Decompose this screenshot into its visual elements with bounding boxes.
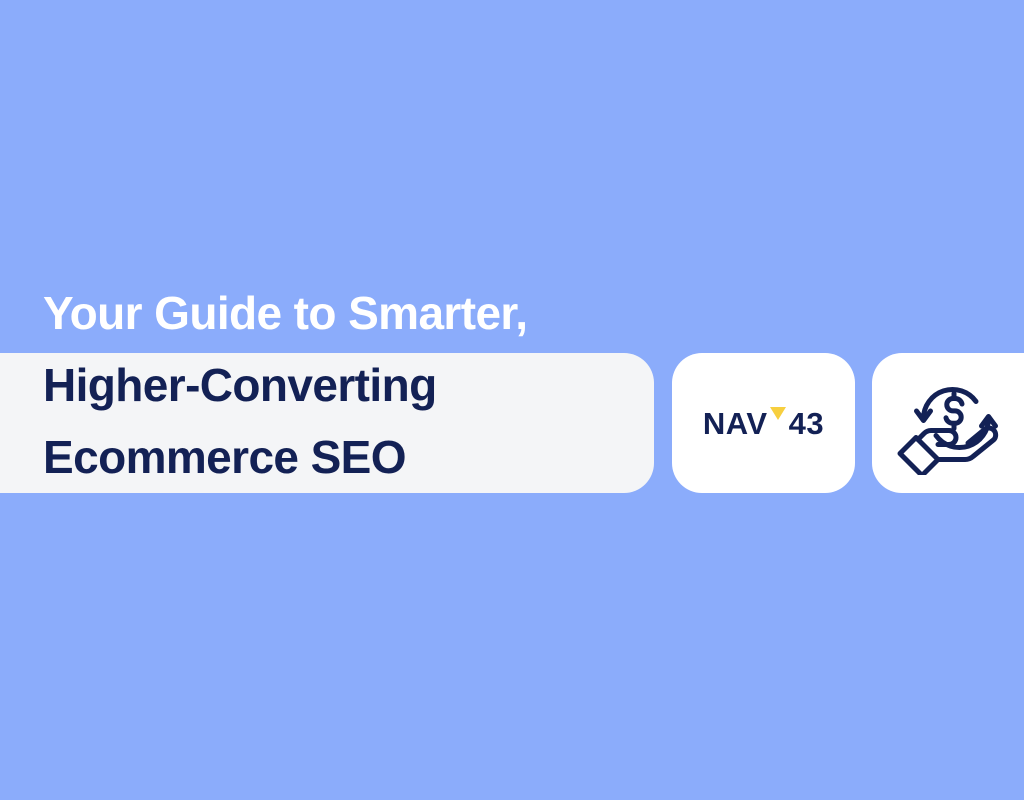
wordmark-part-43: 43: [789, 408, 824, 439]
headline-line-2: Higher-Converting: [43, 349, 663, 421]
headline-line-3: Ecommerce SEO: [43, 421, 663, 493]
brand-logo-card[interactable]: NAV 43: [672, 353, 855, 493]
headline-line-1: Your Guide to Smarter,: [43, 277, 663, 349]
icon-card[interactable]: [872, 353, 1024, 493]
triangle-down-icon: [770, 407, 786, 420]
page-title: Your Guide to Smarter, Higher-Converting…: [43, 277, 663, 493]
wordmark-part-nav: NAV: [703, 408, 768, 439]
slide-canvas: NAV 43 Your Gu: [0, 0, 1024, 800]
nav43-wordmark: NAV 43: [703, 408, 824, 439]
hand-holding-dollar-coin-refresh-icon: [892, 371, 1010, 475]
